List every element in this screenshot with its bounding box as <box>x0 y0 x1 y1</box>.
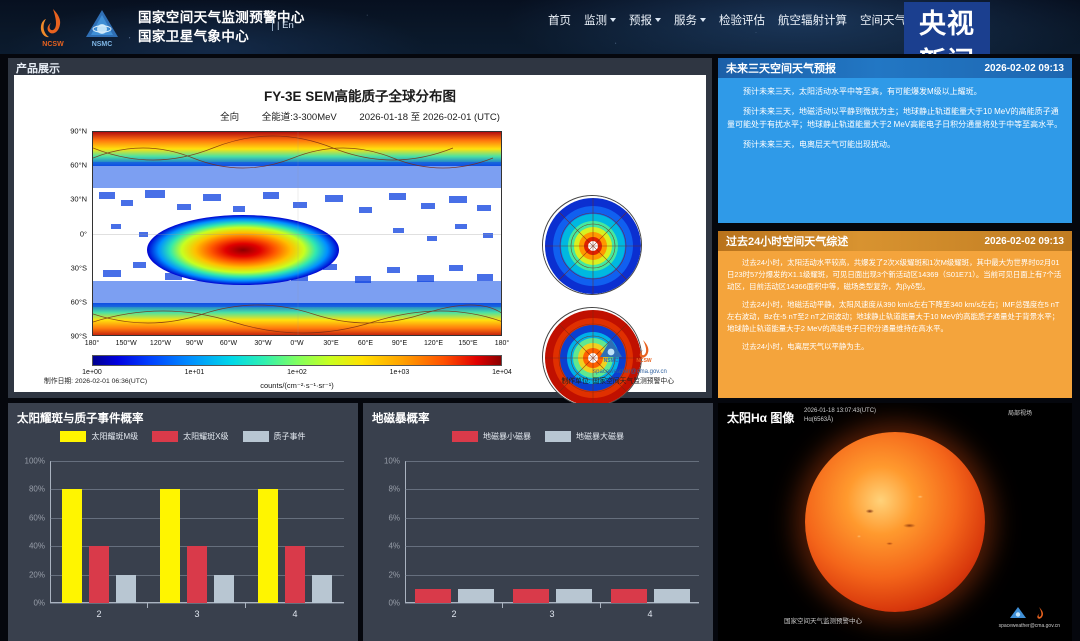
flare-chart-legend: 太阳耀斑M级 太阳耀斑X级 质子事件 <box>8 431 358 442</box>
chart-footer: 制作日期: 2026-02-01 06:36(UTC) 制作单位: 国家空间天气… <box>44 375 674 385</box>
cctv-news-watermark: 央视 新闻 <box>904 2 990 54</box>
made-by-label: 制作单位: <box>561 378 590 385</box>
nav-item-service[interactable]: 服务 <box>674 12 706 28</box>
flare-ytick: 0% <box>33 599 45 608</box>
flare-ytick: 20% <box>29 570 45 579</box>
summary-paragraph: 过去24小时，电离层天气以平静为主。 <box>727 341 1063 353</box>
heatmap-canvas <box>93 132 502 336</box>
chart-made-date: 制作日期: 2026-02-01 06:36(UTC) <box>44 375 147 385</box>
chart-brand-block: NSMC NCSW spaceweather@cma.gov.cn <box>570 337 690 375</box>
geo-chart-plot: 10% 8% 6% 4% 2% 0% 2 3 <box>405 461 699 603</box>
site-header: NCSW NSMC 国家空间天气监测预警中心 国家卫星气象中心 | En 首页 … <box>0 0 1080 54</box>
nav-label: 检验评估 <box>719 12 765 28</box>
bar-flare-x <box>285 546 305 603</box>
made-date-label: 制作日期: <box>44 378 73 385</box>
summary-panel-title: 过去24小时空间天气综述 <box>726 233 848 249</box>
bar-minor-storm <box>611 589 647 603</box>
heatmap-xtick: 60°W <box>220 340 237 347</box>
heatmap-ytick: 90°N <box>70 127 87 136</box>
summary-paragraph: 过去24小时，太阳活动水平较高，共爆发了2次X级耀斑和1次M级耀斑，其中最大为世… <box>727 257 1063 293</box>
nav-item-verification[interactable]: 检验评估 <box>719 12 765 28</box>
page-root: NCSW NSMC 国家空间天气监测预警中心 国家卫星气象中心 | En 首页 … <box>0 0 1080 641</box>
bar-group: 4 <box>246 461 344 603</box>
nav-label: 服务 <box>674 12 697 28</box>
flare-xtick: 3 <box>194 609 199 619</box>
made-date-value: 2026-02-01 06:36(UTC) <box>75 378 147 385</box>
geo-xtick: 4 <box>647 609 652 619</box>
legend-swatch <box>243 431 269 442</box>
geo-ytick: 2% <box>388 570 400 579</box>
chart-subtitle: 全向 全能道:3-300MeV 2026-01-18 至 2026-02-01 … <box>14 109 706 123</box>
geo-ytick: 0% <box>388 599 400 608</box>
forecast-panel-timestamp: 2026-02-02 09:13 <box>984 63 1064 74</box>
heatmap-xtick: 90°E <box>392 340 407 347</box>
bar-flare-x <box>89 546 109 603</box>
summary-paragraph: 过去24小时，地磁活动平静，太阳风速度从390 km/s左右下降至340 km/… <box>727 299 1063 335</box>
heatmap-xtick: 60°E <box>358 340 373 347</box>
north-polar-inset <box>542 195 642 295</box>
sun-panel-title: 太阳Hα 图像 <box>727 409 794 426</box>
bar-flare-m <box>160 489 180 603</box>
cctv-line1: 央视 <box>904 5 990 43</box>
legend-item-flare-m: 太阳耀斑M级 <box>60 431 138 442</box>
forecast-paragraph: 预计未来三天，电离层天气可能出现扰动。 <box>727 138 1063 151</box>
nav-label: 首页 <box>548 12 571 28</box>
sun-meta-field-of-view: 局部视场 <box>1008 408 1032 417</box>
sun-image-metadata: 2026-01-18 13:07:43(UTC) Hα(6563Å) <box>804 407 876 425</box>
bar-major-storm <box>458 589 494 603</box>
legend-item-proton-event: 质子事件 <box>243 431 306 442</box>
geo-ytick: 10% <box>384 457 400 466</box>
nav-label: 预报 <box>629 12 652 28</box>
bar-major-storm <box>654 589 690 603</box>
flare-ytick: 40% <box>29 542 45 551</box>
geo-ytick: 6% <box>388 513 400 522</box>
geo-chart-title: 地磁暴概率 <box>363 403 713 426</box>
forecast-panel-header: 未来三天空间天气预报 2026-02-02 09:13 <box>718 58 1072 78</box>
heatmap-xtick: 150°E <box>458 340 477 347</box>
sun-footer-org: 国家空间天气监测预警中心 <box>784 615 862 625</box>
svg-text:NSMC: NSMC <box>92 41 113 48</box>
legend-label: 太阳耀斑M级 <box>91 431 138 442</box>
geomagnetic-storm-probability-chart: 地磁暴概率 地磁暴小磁暴 地磁暴大磁暴 10% 8% 6% 4% 2% 0% <box>363 403 713 641</box>
bar-major-storm <box>556 589 592 603</box>
nav-item-forecast[interactable]: 预报 <box>629 12 661 28</box>
solar-halpha-image-panel: 太阳Hα 图像 2026-01-18 13:07:43(UTC) Hα(6563… <box>718 403 1072 641</box>
legend-label: 太阳耀斑X级 <box>183 431 228 442</box>
forecast-paragraph: 预计未来三天，太阳活动水平中等至高，有可能爆发M级以上耀斑。 <box>727 85 1063 98</box>
heatmap-xtick: 30°E <box>323 340 338 347</box>
ncsw-logo-icon: NCSW <box>32 5 74 49</box>
product-display-panel: 产品展示 FY-3E SEM高能质子全球分布图 全向 全能道:3-300MeV … <box>8 58 712 398</box>
heatmap-ytick: 30°N <box>70 195 87 204</box>
bar-group: 3 <box>503 461 601 603</box>
bar-proton <box>214 575 234 603</box>
flare-chart-plot: 100% 80% 60% 40% 20% 0% 2 3 <box>50 461 344 603</box>
svg-text:NCSW: NCSW <box>636 358 652 363</box>
chart-sub-period: 2026-01-18 至 2026-02-01 (UTC) <box>359 112 499 123</box>
heatmap-ytick: 60°N <box>70 161 87 170</box>
chart-brand-logos-icon: NSMC NCSW <box>595 337 665 363</box>
chart-title: FY-3E SEM高能质子全球分布图 <box>14 85 706 105</box>
bar-minor-storm <box>415 589 451 603</box>
cctv-line2: 新闻 <box>904 43 990 54</box>
heatmap-xtick: 120°E <box>424 340 443 347</box>
geo-ytick: 8% <box>388 485 400 494</box>
heatmap-xtick: 90°W <box>186 340 203 347</box>
heatmap-xtick: 150°W <box>116 340 137 347</box>
summary-panel-timestamp: 2026-02-02 09:13 <box>984 236 1064 247</box>
heatmap-xtick: 0°W <box>290 340 303 347</box>
colorbar-gradient <box>92 355 502 366</box>
chevron-down-icon <box>655 18 661 22</box>
nsmc-logo-icon: NSMC <box>81 5 123 49</box>
geo-bar-groups: 2 3 4 <box>405 461 699 603</box>
bar-proton <box>312 575 332 603</box>
bar-flare-m <box>258 489 278 603</box>
legend-swatch <box>452 431 478 442</box>
heatmap-xtick: 30°W <box>254 340 271 347</box>
nav-label: 监测 <box>584 12 607 28</box>
chart-sub-channel: 全能道:3-300MeV <box>262 112 337 123</box>
chart-made-by: 制作单位: 国家空间天气监测预警中心 <box>561 375 674 385</box>
product-panel-tab[interactable]: 产品展示 <box>8 58 70 76</box>
nav-label: 航空辐射计算 <box>778 12 847 28</box>
summary-panel-header: 过去24小时空间天气综述 2026-02-02 09:13 <box>718 231 1072 251</box>
legend-item-minor-storm: 地磁暴小磁暴 <box>452 431 531 442</box>
legend-label: 质子事件 <box>274 431 306 442</box>
sun-footer-brand: spaceweather@cma.gov.cn <box>999 605 1060 629</box>
bar-flare-x <box>187 546 207 603</box>
geo-xtick: 2 <box>451 609 456 619</box>
summary-panel-body: 过去24小时，太阳活动水平较高，共爆发了2次X级耀斑和1次M级耀斑，其中最大为世… <box>718 251 1072 353</box>
heatmap-xtick: 180° <box>495 340 509 347</box>
flare-xtick: 2 <box>96 609 101 619</box>
heatmap-xtick: 180° <box>85 340 99 347</box>
global-proton-heatmap: 90°N 60°N 30°N 0° 30°S 60°S 90°S 180° 15… <box>92 131 502 336</box>
flare-chart-title: 太阳耀斑与质子事件概率 <box>8 403 358 426</box>
nav-item-aviation-radiation[interactable]: 航空辐射计算 <box>778 12 847 28</box>
sun-disc-image <box>805 432 985 612</box>
language-switch-link[interactable]: | En <box>272 20 294 31</box>
svg-text:NSMC: NSMC <box>604 358 619 363</box>
heatmap-plot-frame <box>92 131 502 336</box>
legend-label: 地磁暴小磁暴 <box>483 431 531 442</box>
past-24h-summary-panel: 过去24小时空间天气综述 2026-02-02 09:13 过去24小时，太阳活… <box>718 231 1072 398</box>
north-polar-plot <box>543 196 642 295</box>
heatmap-colorbar: 1e+00 1e+01 1e+02 1e+03 1e+04 counts/(cm… <box>92 355 502 366</box>
flare-bar-groups: 2 3 4 <box>50 461 344 603</box>
made-by-value: 国家空间天气监测预警中心 <box>592 378 674 385</box>
bar-minor-storm <box>513 589 549 603</box>
bar-group: 2 <box>50 461 148 603</box>
legend-swatch <box>60 431 86 442</box>
geo-xtick: 3 <box>549 609 554 619</box>
legend-swatch <box>545 431 571 442</box>
legend-label: 地磁暴大磁暴 <box>576 431 624 442</box>
sun-meta-timestamp: 2026-01-18 13:07:43(UTC) <box>804 407 876 416</box>
svg-text:NCSW: NCSW <box>42 41 64 48</box>
sun-footer-logos-icon <box>1006 605 1052 621</box>
nav-item-home[interactable]: 首页 <box>548 12 571 28</box>
sun-meta-wavelength: Hα(6563Å) <box>804 416 876 425</box>
chart-sub-direction: 全向 <box>220 112 239 123</box>
forecast-paragraph: 预计未来三天，地磁活动以平静到微扰为主；地球静止轨道能量大于10 MeV的高能质… <box>727 105 1063 131</box>
bar-group: 3 <box>148 461 246 603</box>
logo-group: NCSW NSMC 国家空间天气监测预警中心 国家卫星气象中心 <box>32 5 305 49</box>
heatmap-ytick: 0° <box>80 229 87 238</box>
product-chart-container: FY-3E SEM高能质子全球分布图 全向 全能道:3-300MeV 2026-… <box>14 75 706 392</box>
bar-flare-m <box>62 489 82 603</box>
chevron-down-icon <box>610 18 616 22</box>
chart-brand-email: spaceweather@cma.gov.cn <box>570 369 690 375</box>
forecast-panel-body: 预计未来三天，太阳活动水平中等至高，有可能爆发M级以上耀斑。 预计未来三天，地磁… <box>718 78 1072 151</box>
bar-proton <box>116 575 136 603</box>
flare-proton-probability-chart: 太阳耀斑与质子事件概率 太阳耀斑M级 太阳耀斑X级 质子事件 100% 80% … <box>8 403 358 641</box>
bar-group: 2 <box>405 461 503 603</box>
flare-ytick: 80% <box>29 485 45 494</box>
legend-swatch <box>152 431 178 442</box>
three-day-forecast-panel: 未来三天空间天气预报 2026-02-02 09:13 预计未来三天，太阳活动水… <box>718 58 1072 223</box>
heatmap-ytick: 60°S <box>71 297 87 306</box>
flare-xtick: 4 <box>292 609 297 619</box>
chevron-down-icon <box>700 18 706 22</box>
geo-ytick: 4% <box>388 542 400 551</box>
nav-item-monitoring[interactable]: 监测 <box>584 12 616 28</box>
flare-ytick: 100% <box>25 457 45 466</box>
forecast-panel-title: 未来三天空间天气预报 <box>726 60 836 76</box>
legend-item-flare-x: 太阳耀斑X级 <box>152 431 228 442</box>
sun-footer-email: spaceweather@cma.gov.cn <box>999 623 1060 629</box>
legend-item-major-storm: 地磁暴大磁暴 <box>545 431 624 442</box>
flare-ytick: 60% <box>29 513 45 522</box>
heatmap-xtick: 120°W <box>150 340 171 347</box>
bar-group: 4 <box>601 461 699 603</box>
heatmap-ytick: 30°S <box>71 263 87 272</box>
geo-chart-legend: 地磁暴小磁暴 地磁暴大磁暴 <box>363 431 713 442</box>
